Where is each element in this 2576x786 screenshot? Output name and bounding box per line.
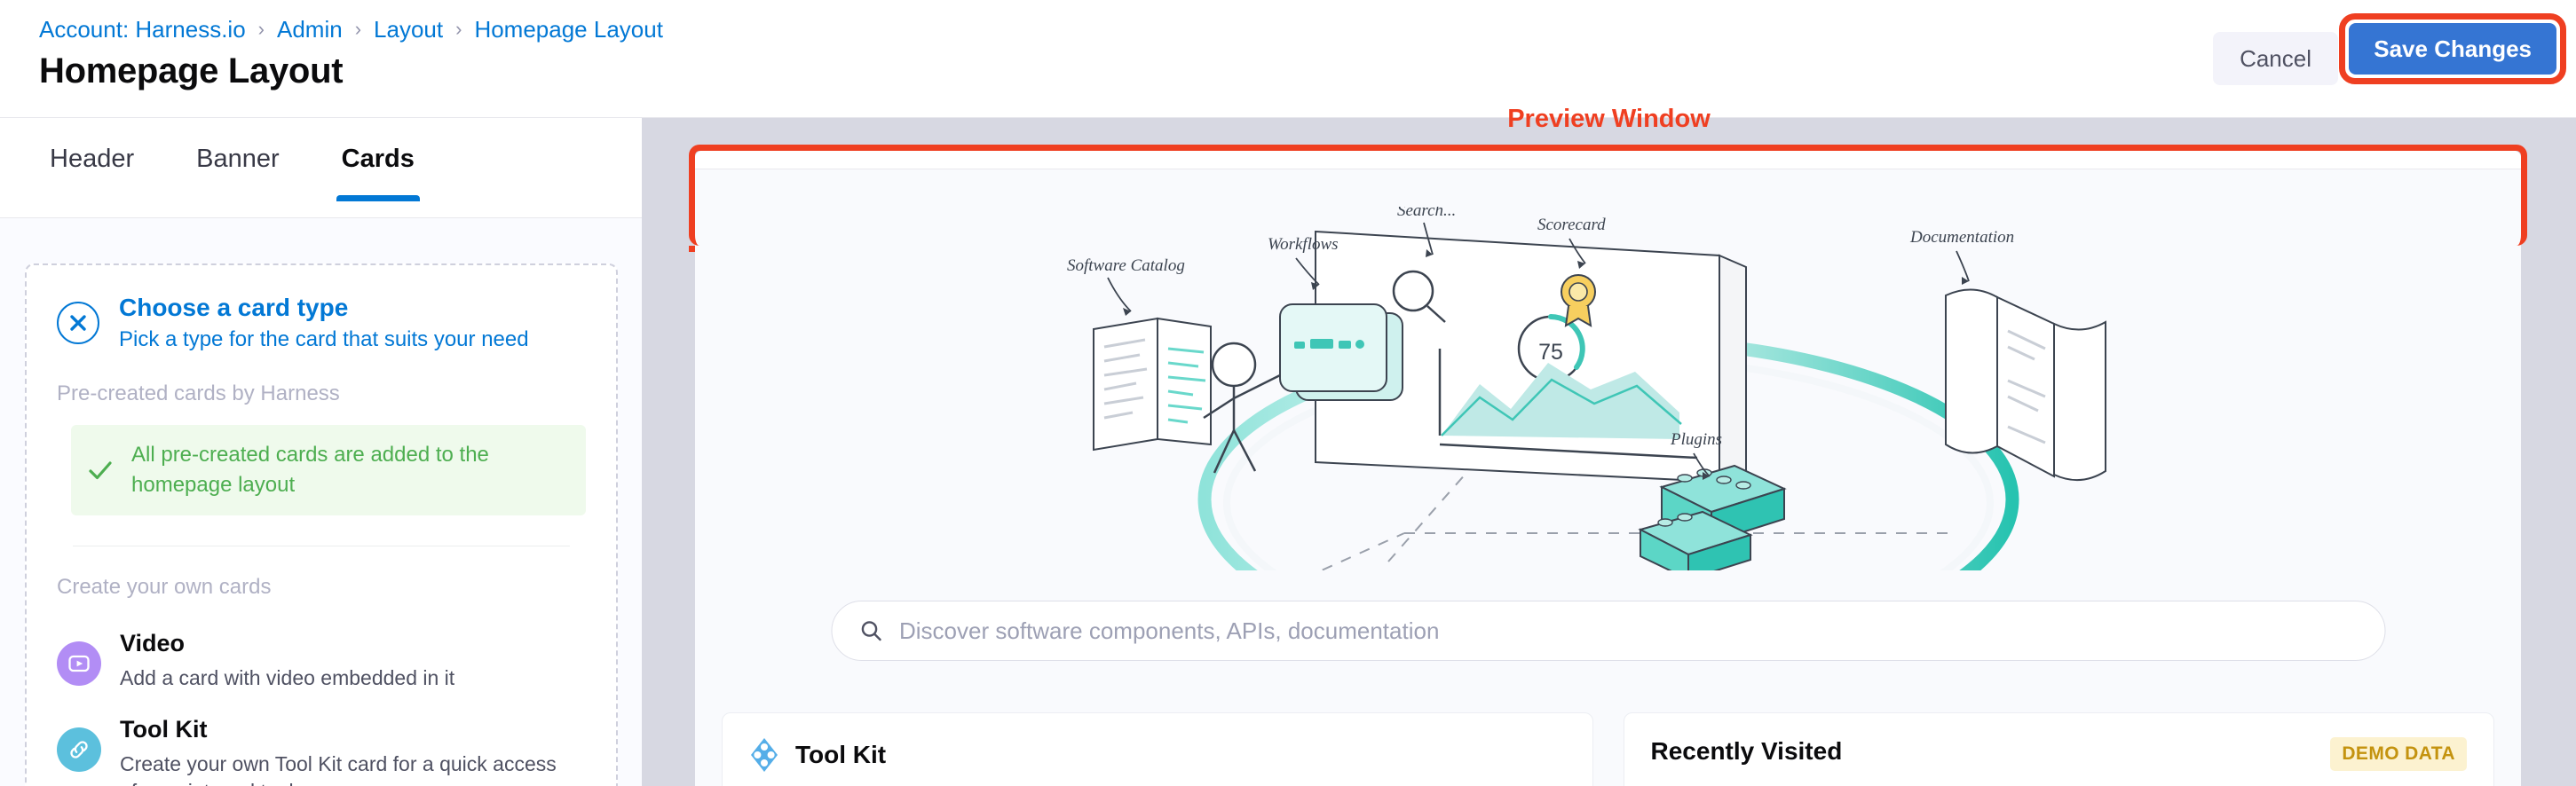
breadcrumb-separator-icon: › <box>355 20 361 39</box>
preview-window: 75 <box>695 151 2521 786</box>
preview-card-recently-visited-header: Recently Visited <box>1651 737 1843 766</box>
preview-window-title-strip <box>695 151 2521 169</box>
card-type-video[interactable]: Video Add a card with video embedded in … <box>57 618 586 704</box>
toolkit-diamond-icon <box>749 737 779 773</box>
top-bar: Account: Harness.io › Admin › Layout › H… <box>0 0 2576 118</box>
preview-search-bar[interactable]: Discover software components, APIs, docu… <box>831 601 2385 661</box>
preview-card-toolkit-title: Tool Kit <box>795 741 886 769</box>
card-type-video-description: Add a card with video embedded in it <box>120 664 454 692</box>
section-divider <box>73 546 570 546</box>
chooser-subtitle: Pick a type for the card that suits your… <box>119 326 529 353</box>
precreated-status-text: All pre-created cards are added to the h… <box>131 440 568 500</box>
tab-bar: Header Banner Cards <box>0 118 642 218</box>
preview-card-toolkit-header: Tool Kit <box>749 737 886 773</box>
card-type-toolkit-name: Tool Kit <box>120 715 573 745</box>
breadcrumb-separator-icon: › <box>455 20 462 39</box>
illustration-label-search: Search... <box>1397 207 1456 220</box>
save-changes-button[interactable]: Save Changes <box>2349 23 2556 75</box>
preview-cards-row: Tool Kit Recently Visited DEMO DATA <box>722 712 2494 786</box>
tab-cards[interactable]: Cards <box>336 118 420 199</box>
illustration-label-plugins: Plugins <box>1670 430 1722 449</box>
tab-header[interactable]: Header <box>44 118 139 199</box>
page-title: Homepage Layout <box>39 51 343 91</box>
cancel-button[interactable]: Cancel <box>2213 32 2338 85</box>
breadcrumb-separator-icon: › <box>258 20 265 39</box>
card-type-toolkit[interactable]: Tool Kit Create your own Tool Kit card f… <box>57 704 586 786</box>
precreated-status-banner: All pre-created cards are added to the h… <box>71 425 586 515</box>
card-type-list: Video Add a card with video embedded in … <box>57 618 586 786</box>
chooser-title: Choose a card type <box>119 292 529 323</box>
scorecard-value: 75 <box>1538 340 1563 365</box>
breadcrumb-item-homepage-layout[interactable]: Homepage Layout <box>474 18 662 41</box>
preview-search-placeholder: Discover software components, APIs, docu… <box>899 617 1439 645</box>
card-type-video-name: Video <box>120 629 454 659</box>
card-type-toolkit-text: Tool Kit Create your own Tool Kit card f… <box>120 715 573 786</box>
breadcrumb-item-account[interactable]: Account: Harness.io <box>39 18 246 41</box>
precreated-section-label: Pre-created cards by Harness <box>57 381 586 406</box>
illustration-label-workflows: Workflows <box>1268 235 1339 254</box>
card-type-video-text: Video Add a card with video embedded in … <box>120 629 454 692</box>
left-config-panel: Header Banner Cards Choose a card type P… <box>0 118 642 786</box>
own-cards-section-label: Create your own cards <box>57 575 586 600</box>
illustration-label-software-catalog: Software Catalog <box>1067 256 1185 275</box>
video-play-icon <box>57 641 101 686</box>
link-chain-icon <box>57 727 101 772</box>
illustration-label-documentation: Documentation <box>1909 228 2014 247</box>
chooser-header: Choose a card type Pick a type for the c… <box>57 292 586 353</box>
demo-data-badge: DEMO DATA <box>2330 737 2467 771</box>
idp-hero-illustration: 75 <box>1058 207 2159 570</box>
breadcrumb: Account: Harness.io › Admin › Layout › H… <box>39 18 663 41</box>
check-icon <box>85 455 115 485</box>
card-type-toolkit-description: Create your own Tool Kit card for a quic… <box>120 751 573 786</box>
breadcrumb-item-admin[interactable]: Admin <box>277 18 343 41</box>
preview-window-content: 75 <box>695 169 2521 786</box>
preview-card-toolkit[interactable]: Tool Kit <box>722 712 1593 786</box>
chooser-text-block: Choose a card type Pick a type for the c… <box>119 292 529 353</box>
illustration-label-scorecard: Scorecard <box>1537 216 1606 234</box>
preview-card-recently-visited[interactable]: Recently Visited DEMO DATA <box>1624 712 2495 786</box>
card-type-chooser: Choose a card type Pick a type for the c… <box>25 263 618 786</box>
tab-banner[interactable]: Banner <box>191 118 285 199</box>
search-icon <box>858 618 883 643</box>
breadcrumb-item-layout[interactable]: Layout <box>374 18 443 41</box>
preview-card-recently-visited-title: Recently Visited <box>1651 737 1843 766</box>
save-changes-container: Save Changes <box>2349 23 2556 75</box>
panel-body: Choose a card type Pick a type for the c… <box>0 218 642 786</box>
close-x-icon[interactable] <box>57 302 99 344</box>
